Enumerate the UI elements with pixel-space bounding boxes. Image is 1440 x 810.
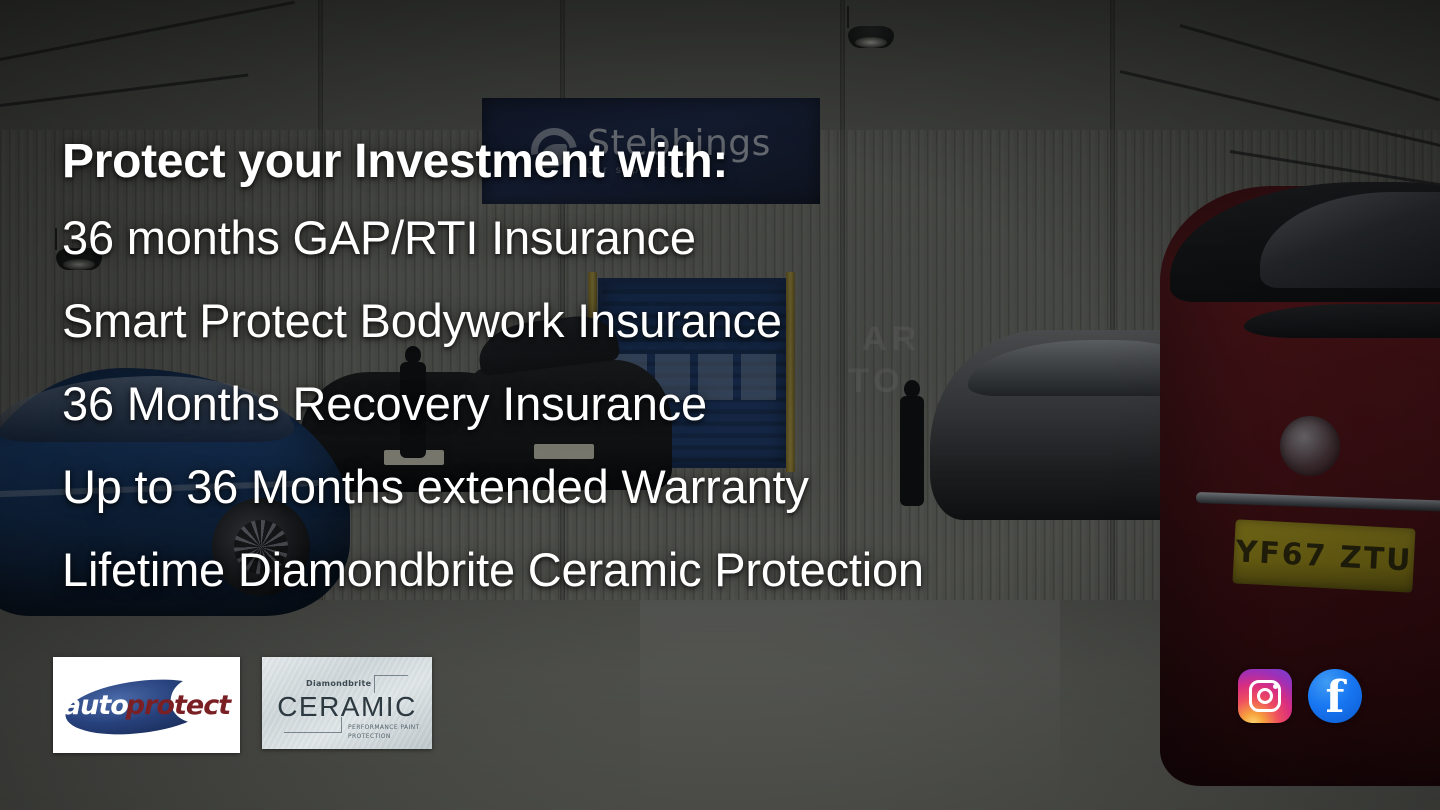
benefit-line-5: Lifetime Diamondbrite Ceramic Protection	[62, 546, 1392, 593]
benefit-line-2: Smart Protect Bodywork Insurance	[62, 297, 1392, 344]
promo-slide: Stebbings car superstore AR TO	[0, 0, 1440, 810]
partner-logo-row: auto protect Diamondbrite CERAMIC PERFOR…	[53, 657, 432, 753]
benefit-line-4: Up to 36 Months extended Warranty	[62, 463, 1392, 510]
ceramic-brand-name: Diamondbrite	[306, 679, 371, 688]
ceramic-tagline: PERFORMANCE PAINT PROTECTION	[348, 723, 432, 741]
autoprotect-word-protect: protect	[126, 690, 230, 721]
social-links: f	[1238, 669, 1362, 723]
benefit-line-3: 36 Months Recovery Insurance	[62, 380, 1392, 427]
instagram-icon[interactable]	[1238, 669, 1292, 723]
promo-copy-block: Protect your Investment with: 36 months …	[62, 138, 1392, 593]
autoprotect-word-auto: auto	[63, 690, 128, 721]
ceramic-title: CERAMIC	[276, 691, 418, 723]
benefit-line-1: 36 months GAP/RTI Insurance	[62, 214, 1392, 261]
diamondbrite-ceramic-logo: Diamondbrite CERAMIC PERFORMANCE PAINT P…	[262, 657, 432, 749]
autoprotect-logo: auto protect	[53, 657, 240, 753]
page-title: Protect your Investment with:	[62, 138, 1392, 186]
facebook-icon[interactable]: f	[1308, 669, 1362, 723]
